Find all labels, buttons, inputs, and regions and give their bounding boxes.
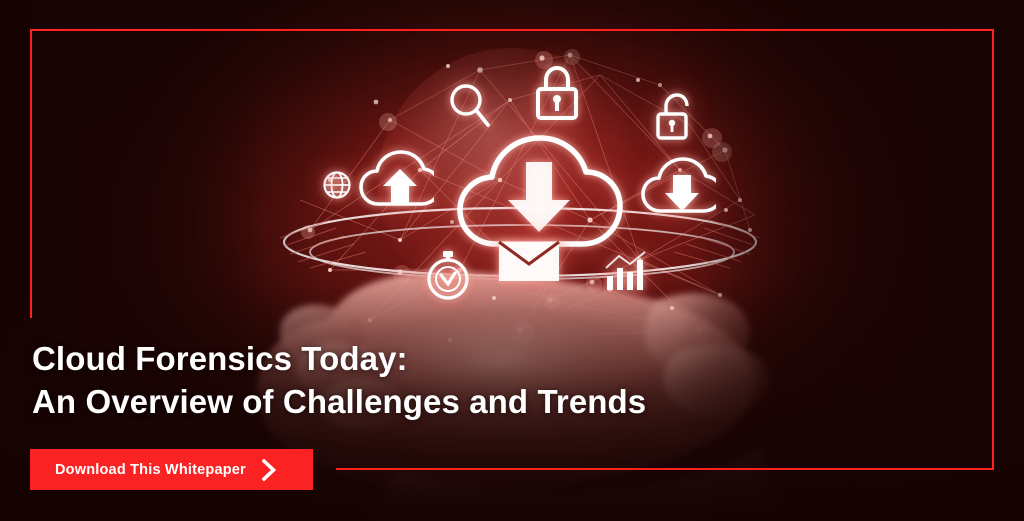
download-whitepaper-button[interactable]: Download This Whitepaper	[30, 449, 313, 490]
download-whitepaper-button-label: Download This Whitepaper	[55, 462, 246, 478]
page-title: Cloud Forensics Today: An Overview of Ch…	[32, 337, 646, 423]
chevron-right-icon	[262, 459, 277, 481]
bokeh-particles	[280, 40, 750, 340]
whitepaper-promo-banner: Cloud Forensics Today: An Overview of Ch…	[0, 0, 1024, 521]
